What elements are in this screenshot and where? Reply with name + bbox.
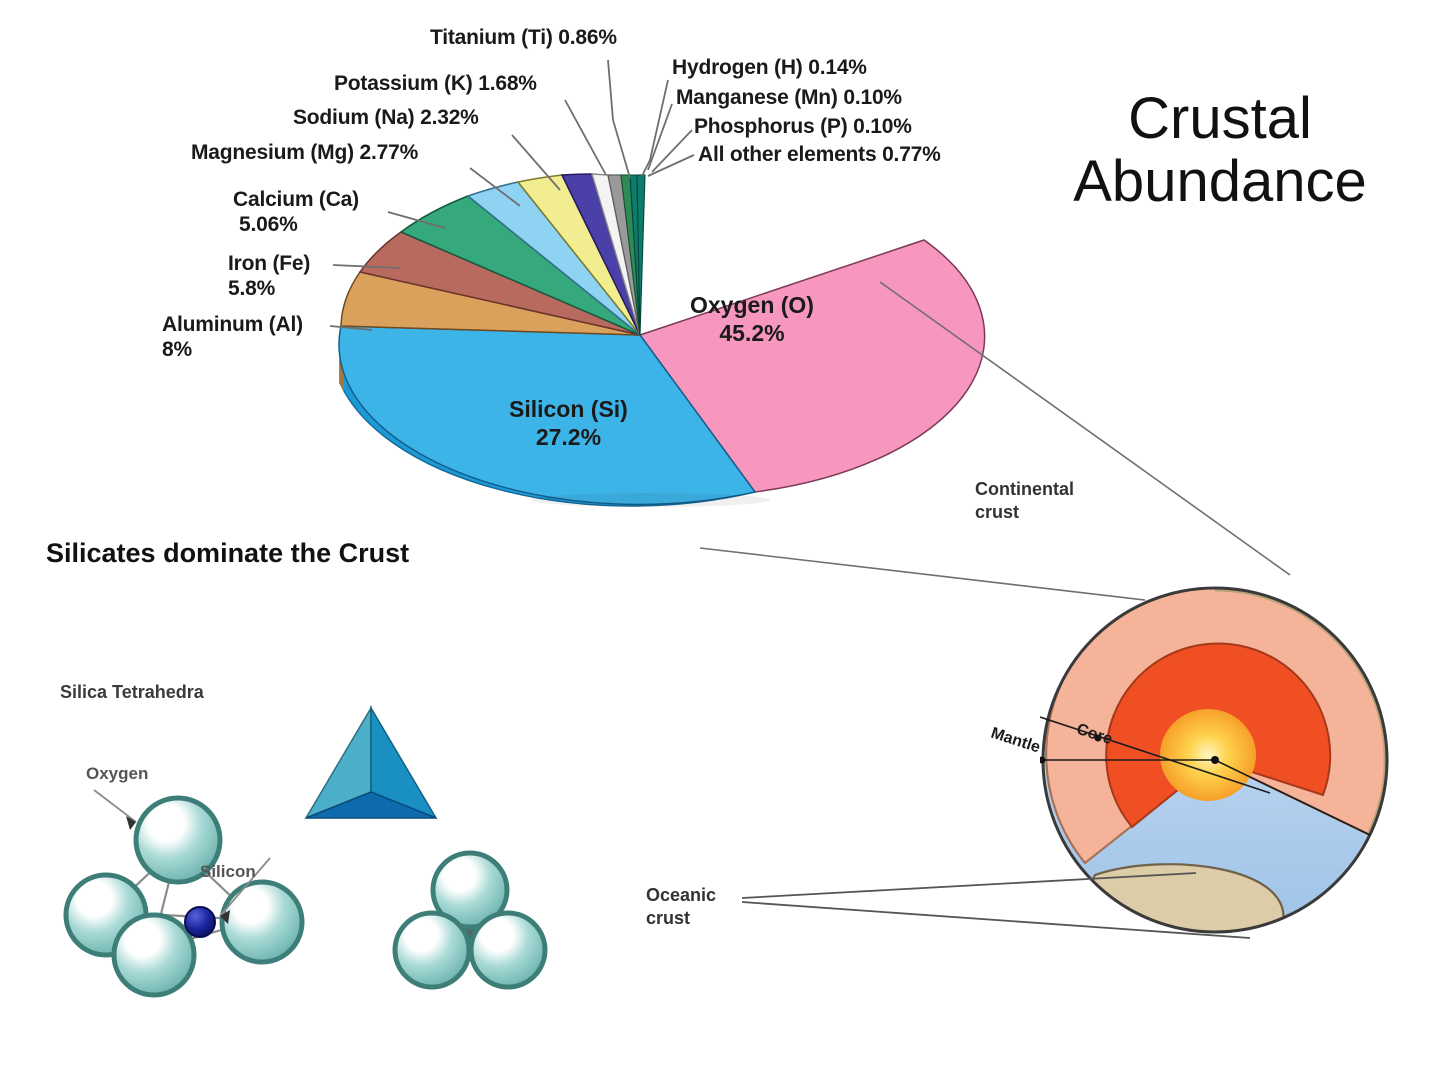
page-title-line-1: Crustal [1010, 88, 1430, 151]
callout-manganese: Manganese (Mn) 0.10% [676, 86, 902, 111]
silica-tetrahedra-caption: Silica Tetrahedra [60, 682, 204, 703]
callout-iron: Iron (Fe) 5.8% [228, 252, 310, 301]
pie-label-oxygen: Oxygen (O) 45.2% [690, 292, 814, 347]
callout-iron-line-2: 5.8% [228, 277, 310, 302]
callout-aluminum-line-2: 8% [162, 338, 303, 363]
pie-label-silicon-value: 27.2% [509, 424, 628, 452]
packed-oxygen-right [471, 913, 545, 987]
silicon-label: Silicon [200, 862, 256, 882]
silicon-sphere [185, 907, 215, 937]
callout-calcium-line-2: 5.06% [233, 213, 359, 238]
callout-phosphorus: Phosphorus (P) 0.10% [694, 115, 912, 140]
callout-iron-line-1: Iron (Fe) [228, 252, 310, 277]
continental-crust-line-2: crust [975, 501, 1074, 524]
crustal-abundance-pie-chart [300, 140, 1000, 570]
callout-sodium: Sodium (Na) 2.32% [293, 106, 479, 131]
callout-calcium-line-1: Calcium (Ca) [233, 188, 359, 213]
continental-crust-label: Continental crust [975, 478, 1074, 523]
earth-cutaway-diagram [1040, 545, 1420, 975]
pie-label-silicon-name: Silicon (Si) [509, 396, 628, 424]
callout-magnesium: Magnesium (Mg) 2.77% [191, 141, 418, 166]
callout-potassium: Potassium (K) 1.68% [334, 72, 537, 97]
callout-hydrogen: Hydrogen (H) 0.14% [672, 56, 867, 81]
silica-packed-sphere-model [392, 850, 552, 995]
page-title: Crustal Abundance [1010, 88, 1430, 213]
earth-inner-core [1160, 709, 1256, 801]
pie-label-oxygen-value: 45.2% [690, 320, 814, 348]
silicates-caption: Silicates dominate the Crust [46, 538, 409, 569]
callout-aluminum: Aluminum (Al) 8% [162, 313, 303, 362]
pie-label-silicon: Silicon (Si) 27.2% [509, 396, 628, 451]
oceanic-crust-line-1: Oceanic [646, 884, 716, 907]
oxygen-label: Oxygen [86, 764, 148, 784]
callout-other: All other elements 0.77% [698, 143, 941, 168]
slide-canvas: Crustal Abundance [0, 0, 1440, 1074]
earth-land-bottom [1092, 864, 1283, 967]
continental-crust-line-1: Continental [975, 478, 1074, 501]
pie-label-oxygen-name: Oxygen (O) [690, 292, 814, 320]
pie-shadow [530, 493, 770, 507]
oxygen-sphere-right [222, 882, 302, 962]
earth-center-dot [1211, 756, 1219, 764]
packed-oxygen-left [395, 913, 469, 987]
earth-mantle-label: Mantle [988, 725, 1042, 758]
callout-aluminum-line-1: Aluminum (Al) [162, 313, 303, 338]
callout-calcium: Calcium (Ca) 5.06% [233, 188, 359, 237]
page-title-line-2: Abundance [1010, 151, 1430, 214]
oceanic-crust-label: Oceanic crust [646, 884, 716, 929]
oceanic-crust-line-2: crust [646, 907, 716, 930]
callout-titanium: Titanium (Ti) 0.86% [430, 26, 617, 51]
oxygen-sphere-bottom [114, 915, 194, 995]
